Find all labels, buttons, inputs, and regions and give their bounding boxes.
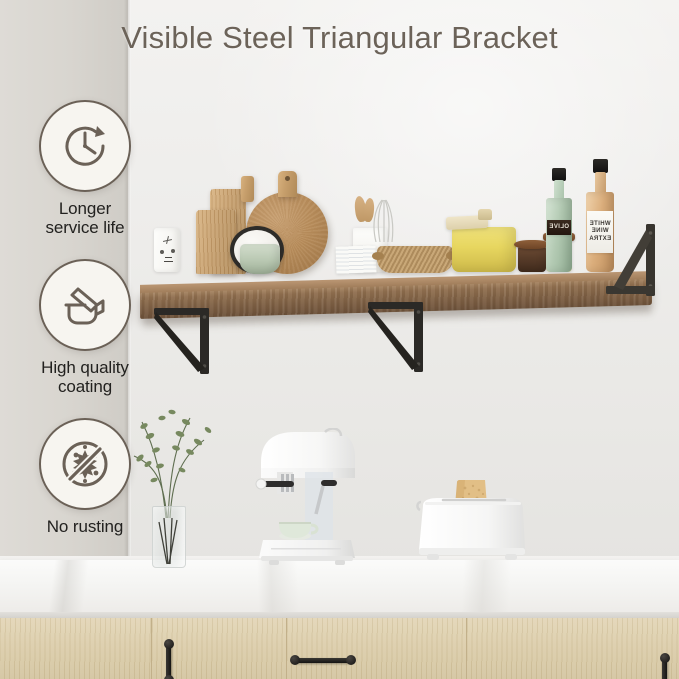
product-marketing-image: Visible Steel Triangular Bracket [0,0,679,679]
cabinet-handle-1[interactable] [166,644,171,679]
feature-badge-longevity-label: Longer service life [0,199,170,237]
cabinet-handle-2[interactable] [294,658,350,663]
cutting-board-handle [241,176,254,202]
page-title: Visible Steel Triangular Bracket [0,20,679,56]
feature-badge-list: Longer service life High quality coating [0,100,170,558]
wall-shelf: OLIVE WHITE WINE EXTRA [140,272,660,402]
cabinet-panel-2[interactable] [152,618,287,679]
toaster [413,480,531,566]
green-glass-bottle: OLIVE [544,168,574,272]
small-cutting-board [196,210,236,274]
cabinet-handle-3-knob-top [660,653,670,663]
cabinet-handle-2-knob-left [290,655,300,665]
feature-badge-no-rusting-label: No rusting [0,517,170,536]
green-bottle-label: OLIVE [547,220,571,235]
feature-badge-coating: High quality coating [0,259,170,396]
yellow-pot [452,227,516,272]
shelf-bracket-right [606,224,664,296]
green-ceramic-bowl [240,244,280,274]
paint-pour-icon [39,259,131,351]
cabinet-handle-1-knob-bottom [164,675,174,679]
round-board-handle [278,171,297,197]
cabinet-handle-1-knob-top [164,639,174,649]
cabinet-panel-4[interactable] [467,618,679,679]
espresso-machine [255,428,370,566]
feature-badge-coating-label: High quality coating [0,358,170,396]
cabinet-panel-1[interactable] [0,618,152,679]
cabinet-handle-2-knob-right [346,655,356,665]
countertop [0,560,679,618]
woven-basket [377,246,453,273]
no-rust-prohibition-icon [39,418,131,510]
spice-jar-dark [518,247,546,272]
yellow-pot-knob [478,209,492,220]
wire-whisk [370,198,395,242]
cabinet-panel-3[interactable] [287,618,467,679]
shelf-bracket-center [368,302,428,372]
checkered-tea-towel [336,245,377,273]
clock-refresh-icon [39,100,131,192]
lower-cabinets [0,618,679,679]
feature-badge-longevity: Longer service life [0,100,170,237]
feature-badge-no-rusting: No rusting [0,418,170,536]
